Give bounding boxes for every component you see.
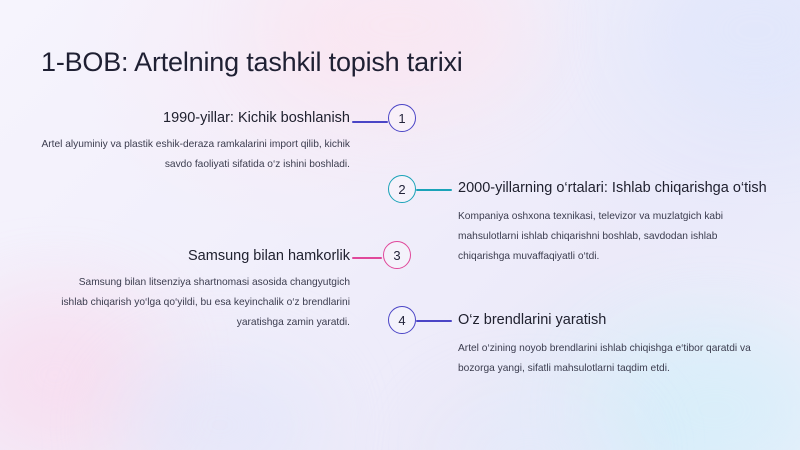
decorative-blob [430, 400, 630, 450]
timeline-item-3: Samsung bilan hamkorlik Samsung bilan li… [60, 246, 350, 333]
connector-line-4 [416, 320, 452, 322]
connector-line-2 [416, 189, 452, 191]
timeline-marker-1[interactable]: 1 [388, 104, 416, 132]
timeline-marker-3[interactable]: 3 [383, 241, 411, 269]
timeline-marker-4[interactable]: 4 [388, 306, 416, 334]
timeline-item-4-heading: O‘z brendlarini yaratish [458, 310, 770, 331]
timeline-item-2-body: Kompaniya oshxona texnikasi, televizor v… [458, 207, 770, 267]
timeline-item-1: 1990-yillar: Kichik boshlanish Artel aly… [30, 108, 350, 175]
decorative-blob [640, 0, 800, 120]
slide-canvas: 1-BOB: Artelning tashkil topish tarixi 1… [0, 0, 800, 450]
timeline-item-3-heading: Samsung bilan hamkorlik [60, 246, 350, 267]
timeline-item-1-body: Artel alyuminiy va plastik eshik-deraza … [30, 135, 350, 175]
timeline-item-2: 2000-yillarning o‘rtalari: Ishlab chiqar… [458, 178, 770, 267]
timeline-item-1-heading: 1990-yillar: Kichik boshlanish [30, 108, 350, 129]
decorative-blob [120, 360, 320, 450]
timeline-item-2-heading: 2000-yillarning o‘rtalari: Ishlab chiqar… [458, 178, 770, 199]
timeline-item-4-body: Artel o‘zining noyob brendlarini ishlab … [458, 339, 770, 379]
connector-line-3 [352, 257, 382, 259]
timeline-marker-2[interactable]: 2 [388, 175, 416, 203]
timeline-item-3-body: Samsung bilan litsenziya shartnomasi aso… [60, 273, 350, 333]
slide-title: 1-BOB: Artelning tashkil topish tarixi [41, 47, 463, 78]
timeline-item-4: O‘z brendlarini yaratish Artel o‘zining … [458, 310, 770, 379]
connector-line-1 [352, 121, 388, 123]
